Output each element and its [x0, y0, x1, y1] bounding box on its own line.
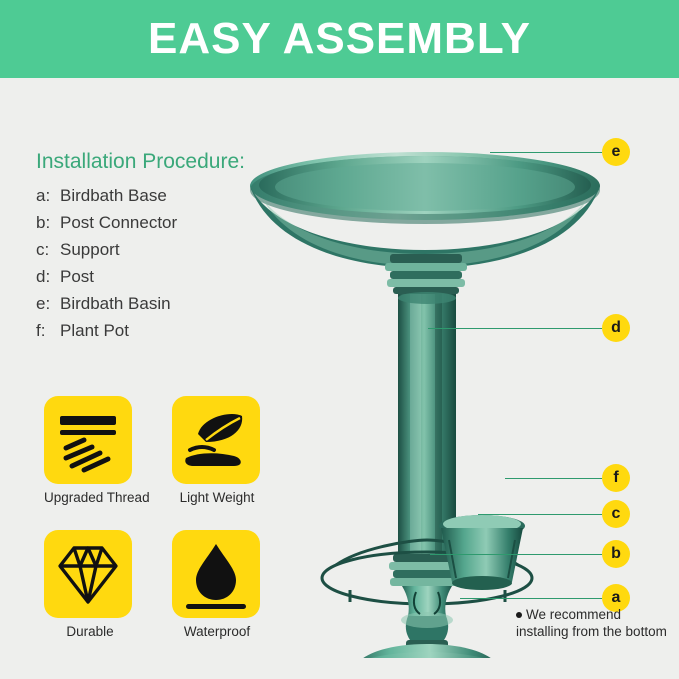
product-infographic: EASY ASSEMBLY: [0, 0, 679, 679]
procedure-key-d: d:: [36, 263, 60, 290]
callout-label-b: b: [611, 546, 621, 562]
diamond-icon: [44, 530, 132, 618]
procedure-label-d: Post: [60, 263, 94, 290]
plant-pot: [439, 515, 525, 590]
feature-caption: Waterproof: [170, 624, 264, 639]
procedure-title: Installation Procedure:: [36, 150, 336, 174]
birdbath-base: [339, 644, 515, 658]
install-note-text: We recommend installing from the bottom: [516, 607, 667, 639]
feather-in-hand-icon: [172, 396, 260, 484]
callout-d: d: [602, 314, 630, 342]
procedure-key-c: c:: [36, 236, 60, 263]
header-banner: EASY ASSEMBLY: [0, 0, 679, 78]
callout-c: c: [602, 500, 630, 528]
procedure-item-b: b: Post Connector: [36, 209, 336, 236]
feature-caption: Light Weight: [170, 490, 264, 505]
feature-upgraded-thread: Upgraded Thread: [44, 396, 136, 505]
procedure-label-f: Plant Pot: [60, 317, 129, 344]
leader-line-c: [478, 514, 602, 515]
feature-caption: Upgraded Thread: [44, 490, 136, 505]
callout-label-e: e: [612, 144, 621, 160]
feature-durable: Durable: [44, 530, 136, 639]
procedure-label-a: Birdbath Base: [60, 182, 167, 209]
procedure-key-b: b:: [36, 209, 60, 236]
feature-caption: Durable: [44, 624, 136, 639]
procedure-item-c: c: Support: [36, 236, 336, 263]
procedure-key-a: a:: [36, 182, 60, 209]
bullet-icon: [516, 612, 522, 618]
procedure-item-f: f: Plant Pot: [36, 317, 336, 344]
feature-tile: [44, 396, 132, 484]
callout-label-d: d: [611, 320, 621, 336]
feature-tile: [172, 396, 260, 484]
feature-tile: [172, 530, 260, 618]
callout-f: f: [602, 464, 630, 492]
thread-icon: [44, 396, 132, 484]
callout-label-a: a: [612, 590, 621, 606]
banner-title: EASY ASSEMBLY: [148, 17, 531, 61]
leader-line-b: [430, 554, 602, 555]
feature-waterproof: Waterproof: [172, 530, 264, 639]
procedure-label-c: Support: [60, 236, 120, 263]
callout-e: e: [602, 138, 630, 166]
callout-b: b: [602, 540, 630, 568]
feature-light-weight: Light Weight: [172, 396, 264, 505]
content-area: Installation Procedure: a: Birdbath Base…: [0, 78, 679, 679]
procedure-key-f: f:: [36, 317, 60, 344]
procedure-item-d: d: Post: [36, 263, 336, 290]
post: [398, 292, 456, 556]
leader-line-f: [505, 478, 602, 479]
procedure-label-e: Birdbath Basin: [60, 290, 171, 317]
leader-line-a: [460, 598, 602, 599]
procedure-label-b: Post Connector: [60, 209, 177, 236]
procedure-key-e: e:: [36, 290, 60, 317]
callout-label-c: c: [612, 506, 621, 522]
procedure-item-e: e: Birdbath Basin: [36, 290, 336, 317]
leader-line-e: [490, 152, 602, 153]
installation-procedure: Installation Procedure: a: Birdbath Base…: [36, 150, 336, 344]
procedure-item-a: a: Birdbath Base: [36, 182, 336, 209]
callout-label-f: f: [613, 470, 618, 486]
post-threaded-collar-top: [385, 254, 467, 294]
install-note: We recommend installing from the bottom: [516, 606, 668, 640]
leader-line-d: [428, 328, 602, 329]
water-drop-icon: [172, 530, 260, 618]
feature-tile: [44, 530, 132, 618]
